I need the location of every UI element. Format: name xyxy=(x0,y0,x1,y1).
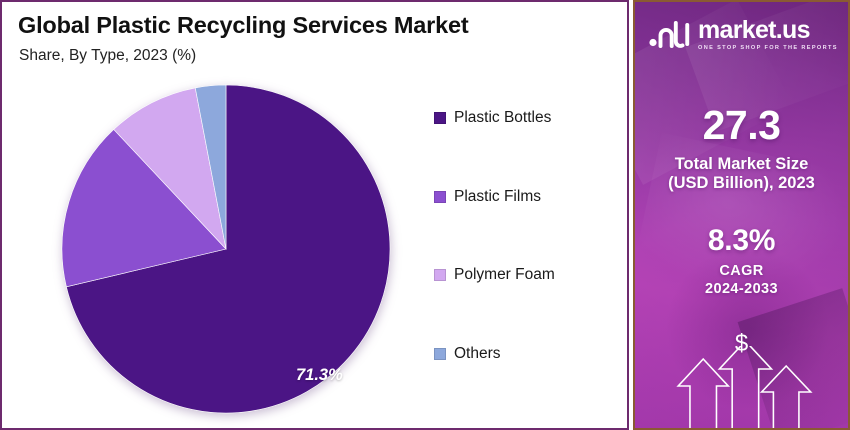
stat-caption-line2: 2024-2033 xyxy=(635,280,848,298)
legend-item-plastic-bottles[interactable]: Plastic Bottles xyxy=(434,106,624,130)
legend-item-plastic-films[interactable]: Plastic Films xyxy=(434,185,624,209)
legend-swatch-icon xyxy=(434,191,446,203)
pie-data-label-plastic-bottles: 71.3% xyxy=(296,366,343,385)
legend-item-label: Others xyxy=(454,346,501,362)
stat-caption-line2: (USD Billion), 2023 xyxy=(635,174,848,193)
stat-caption-line1: Total Market Size xyxy=(635,155,848,174)
stat-caption-line1: CAGR xyxy=(635,262,848,280)
chart-legend: Plastic Bottles Plastic Films Polymer Fo… xyxy=(434,106,624,420)
legend-item-label: Plastic Films xyxy=(454,189,541,205)
market-us-logo-icon xyxy=(649,21,691,48)
stat-value: 8.3% xyxy=(635,226,848,256)
legend-swatch-icon xyxy=(434,269,446,281)
chart-subtitle: Share, By Type, 2023 (%) xyxy=(19,47,196,65)
legend-item-label: Polymer Foam xyxy=(454,267,555,283)
pie-slice-group xyxy=(62,85,390,413)
logo-text: market.us ONE STOP SHOP FOR THE REPORTS xyxy=(698,18,838,52)
growth-arrows-icon xyxy=(635,346,848,428)
legend-swatch-icon xyxy=(434,112,446,124)
chart-panel: Global Plastic Recycling Services Market… xyxy=(0,0,629,430)
market-share-infographic: Global Plastic Recycling Services Market… xyxy=(0,0,850,430)
brand-panel: market.us ONE STOP SHOP FOR THE REPORTS … xyxy=(633,0,850,430)
logo-tagline: ONE STOP SHOP FOR THE REPORTS xyxy=(698,46,838,52)
stat-cagr: 8.3% CAGR 2024-2033 xyxy=(635,226,848,298)
legend-item-label: Plastic Bottles xyxy=(454,110,551,126)
pie-chart: 71.3% xyxy=(60,80,392,418)
stat-value: 27.3 xyxy=(635,105,848,146)
stat-total-market-size: 27.3 Total Market Size (USD Billion), 20… xyxy=(635,105,848,194)
legend-item-polymer-foam[interactable]: Polymer Foam xyxy=(434,263,624,287)
brand-logo[interactable]: market.us ONE STOP SHOP FOR THE REPORTS xyxy=(649,18,839,52)
page-title: Global Plastic Recycling Services Market xyxy=(18,12,468,39)
legend-item-others[interactable]: Others xyxy=(434,342,624,366)
logo-wordmark: market.us xyxy=(698,18,838,43)
legend-swatch-icon xyxy=(434,348,446,360)
